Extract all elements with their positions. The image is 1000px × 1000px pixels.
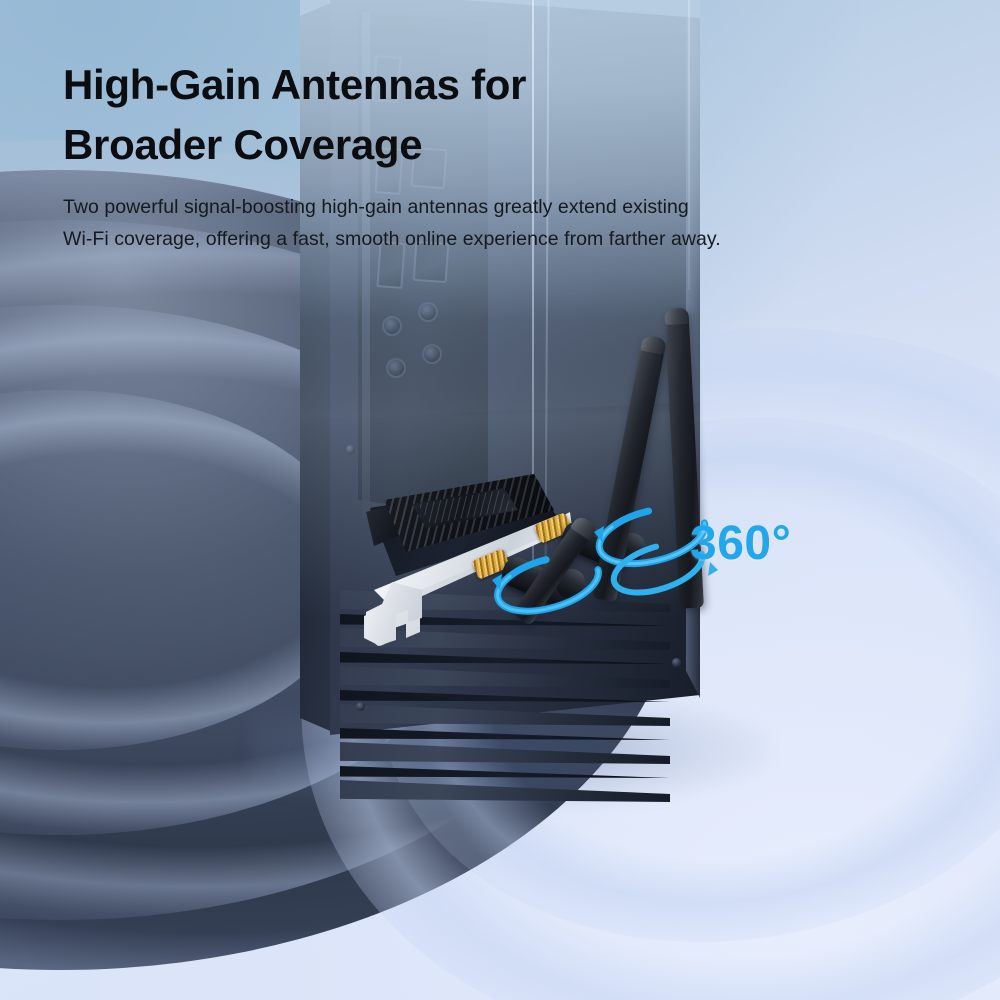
page-subtitle: Two powerful signal-boosting high-gain a… [63,192,923,255]
audio-jack [418,302,438,322]
expansion-slot-cover [340,704,670,726]
audio-jack [422,344,442,364]
page-title: High-Gain Antennas for Broader Coverage [63,55,923,174]
audio-jack [382,316,402,336]
expansion-slot-cover [340,780,670,802]
case-screw [346,445,355,454]
banner-canvas: 360° High-Gain Antennas for Broader Cove… [0,0,1000,1000]
body-line-2: Wi-Fi coverage, offering a fast, smooth … [63,224,923,256]
audio-jack [386,358,406,378]
headline-line-2: Broader Coverage [63,115,923,175]
antenna-tip [664,308,689,325]
copy-block: High-Gain Antennas for Broader Coverage … [63,55,923,255]
expansion-slot-cover [340,742,670,764]
headline-line-1: High-Gain Antennas for [63,55,923,115]
expansion-slot-gap [340,728,670,740]
rotation-degree-label: 360° [690,516,791,571]
pcie-wifi-card [360,470,690,700]
expansion-slot-gap [340,766,670,778]
body-line-1: Two powerful signal-boosting high-gain a… [63,192,923,224]
case-screw [356,702,365,711]
